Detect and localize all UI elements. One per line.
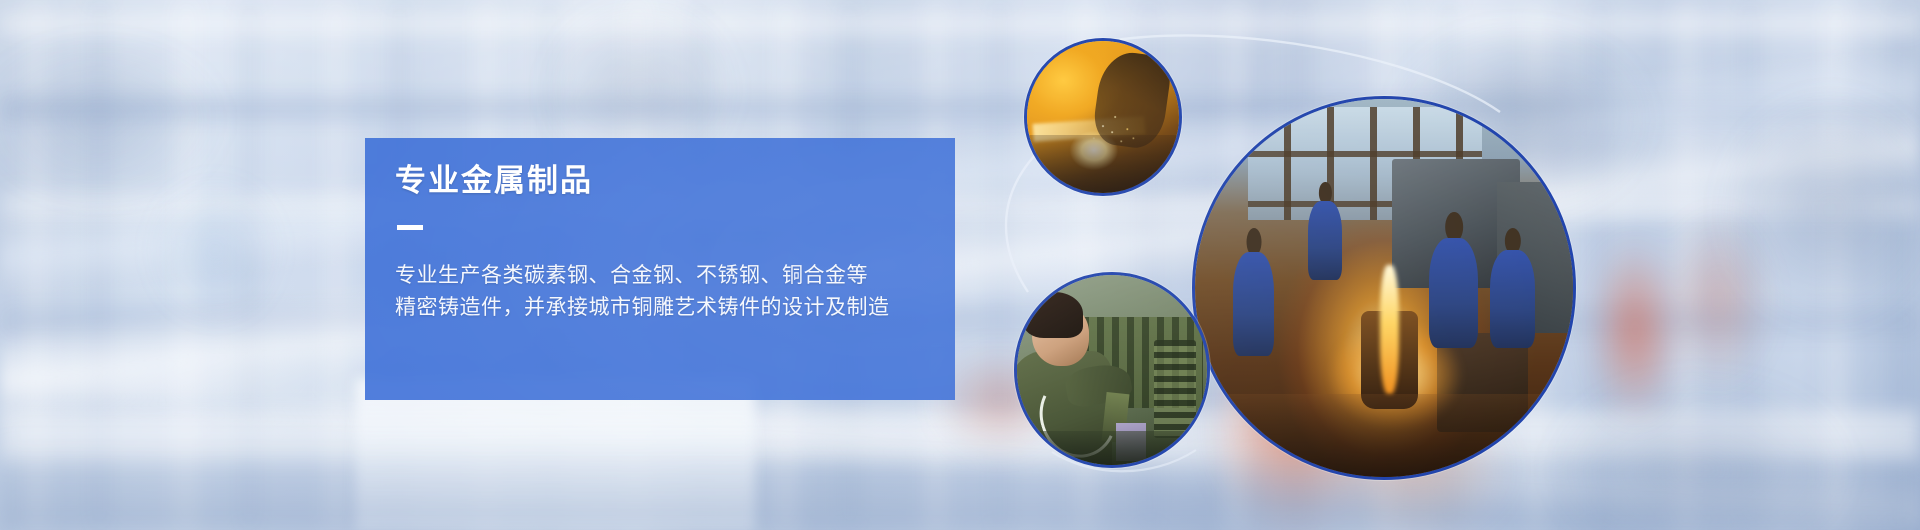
promo-description-line-1: 专业生产各类碳素钢、合金钢、不锈钢、铜合金等 (395, 260, 955, 292)
worker-body (1233, 252, 1275, 356)
worker-body (1308, 201, 1342, 281)
photo-welding-sparks (1024, 38, 1182, 196)
photo-foundry-pour (1192, 96, 1576, 480)
foundry-worker-3 (1429, 212, 1478, 348)
promo-text-panel: 专业金属制品 专业生产各类碳素钢、合金钢、不锈钢、铜合金等 精密铸造件，并承接城… (365, 138, 955, 400)
molten-pour-stream (1380, 265, 1399, 394)
foundry-worker-2 (1308, 182, 1342, 280)
hero-banner: 专业金属制品 专业生产各类碳素钢、合金钢、不锈钢、铜合金等 精密铸造件，并承接城… (0, 0, 1920, 530)
title-divider (397, 225, 423, 230)
worker-hair (1023, 292, 1084, 338)
welding-shadow (1027, 135, 1179, 193)
promo-description-line-2: 精密铸造件，并承接城市铜雕艺术铸件的设计及制造 (395, 292, 955, 324)
work-bench (1017, 431, 1207, 465)
photo-precision-assembly (1014, 272, 1210, 468)
connector-arcs (0, 0, 1920, 530)
promo-description: 专业生产各类碳素钢、合金钢、不锈钢、铜合金等 精密铸造件，并承接城市铜雕艺术铸件… (395, 260, 955, 324)
page-title: 专业金属制品 (395, 162, 955, 199)
foundry-worker-1 (1233, 228, 1275, 357)
worker-body (1429, 238, 1478, 348)
foundry-floor (1195, 394, 1573, 477)
worker-body (1490, 250, 1535, 348)
foundry-worker-4 (1490, 228, 1535, 349)
parts-rack-2 (1154, 340, 1196, 439)
